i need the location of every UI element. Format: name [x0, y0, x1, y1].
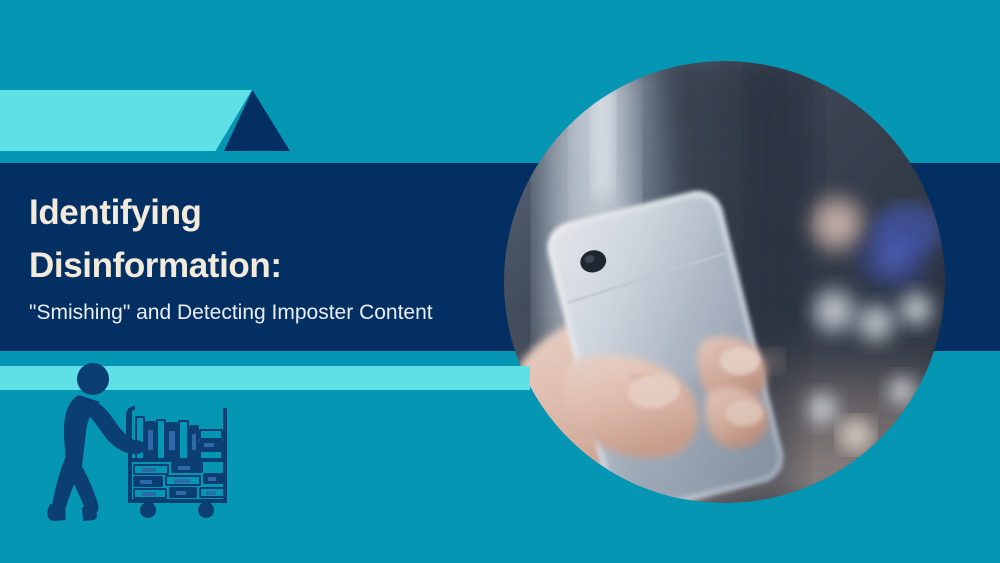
title-line-1: Identifying [29, 186, 499, 239]
cyan-slanted-ribbon [0, 90, 252, 151]
title-block: Identifying Disinformation: "Smishing" a… [29, 186, 499, 331]
librarian-book-cart-illustration [38, 360, 268, 535]
title-line-2: Disinformation: [29, 239, 499, 292]
slide-canvas: Identifying Disinformation: "Smishing" a… [0, 0, 1000, 563]
subtitle: "Smishing" and Detecting Imposter Conten… [29, 295, 499, 331]
circular-photo [504, 61, 945, 503]
